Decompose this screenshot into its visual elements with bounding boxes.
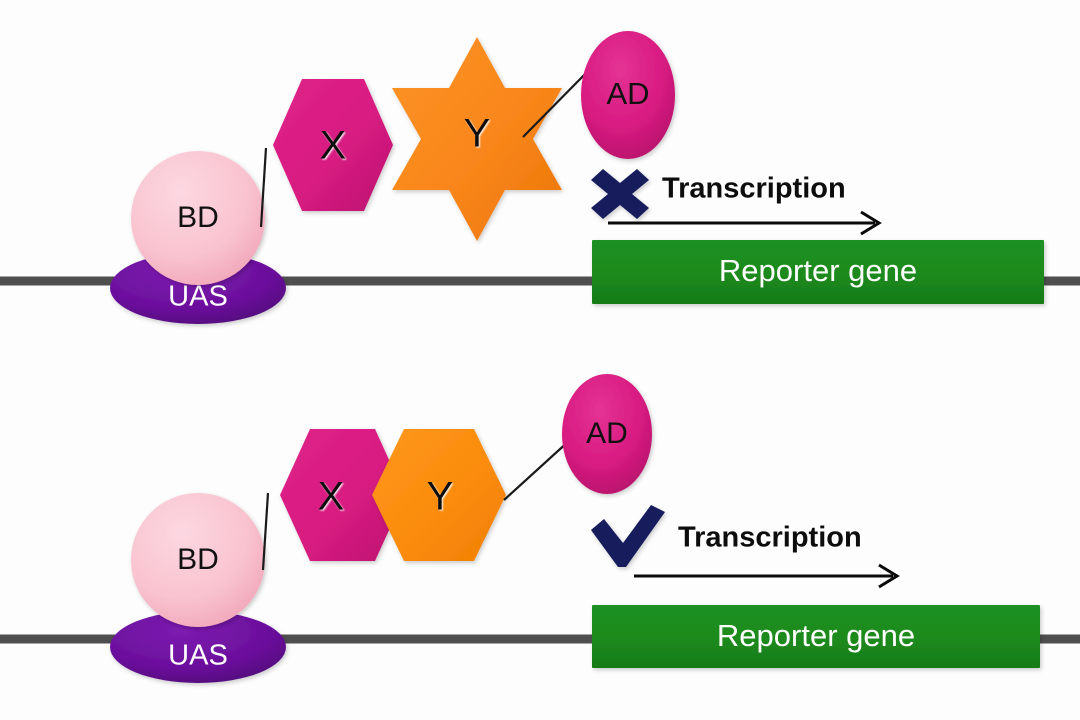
bd-label-top: BD [177,201,219,234]
uas-label-top: UAS [168,281,228,313]
transcription-label-bottom: Transcription [678,522,862,554]
transcription-arrow-top [608,212,879,234]
bait-label-top: X [320,124,347,168]
cross-mark-icon [591,169,649,219]
uas-label-bottom: UAS [168,640,228,672]
bd-bait-tether-bottom [263,493,268,570]
bait-label-bottom: X [318,475,345,519]
check-mark-icon [591,505,665,567]
transcription-arrow-bottom [634,565,897,587]
prey-label-top: Y [464,112,491,156]
ad-label-top: AD [606,76,649,111]
prey-ad-tether-bottom [504,440,570,500]
bottom-panel: Reporter gene UAS BD X Y AD [0,374,1080,683]
prey-label-bottom: Y [427,475,454,519]
figure-svg: Reporter gene UAS BD X Y AD [0,0,1080,720]
diagram-canvas: Reporter gene UAS BD X Y AD [0,0,1080,720]
bd-label-bottom: BD [177,543,219,576]
reporter-gene-label-top: Reporter gene [719,253,917,288]
reporter-gene-label-bottom: Reporter gene [717,618,915,653]
top-panel: Reporter gene UAS BD X Y AD [0,31,1080,324]
transcription-label-top: Transcription [662,173,846,205]
ad-label-bottom: AD [586,417,628,450]
